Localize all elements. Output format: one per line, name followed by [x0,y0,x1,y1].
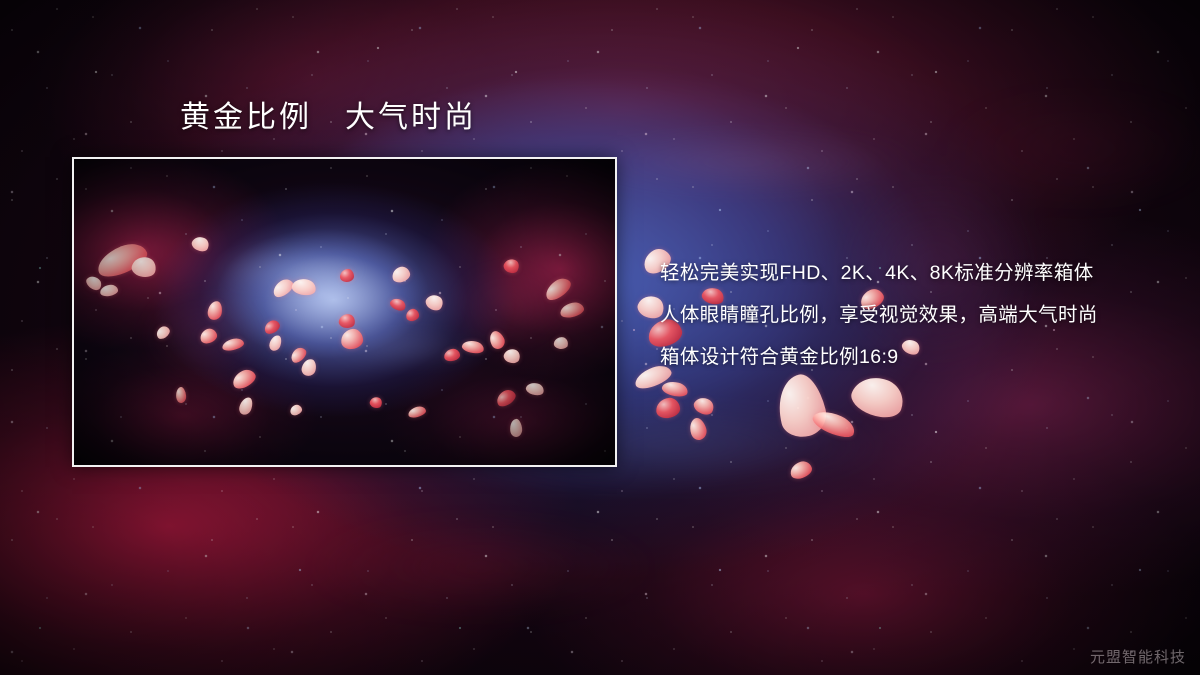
panel-vignette [74,159,615,465]
petal-icon [788,459,814,481]
petal-icon [691,394,716,418]
description-line-2: 人体眼睛瞳孔比例，享受视觉效果，高端大气时尚 [660,294,1160,336]
description-line-3: 箱体设计符合黄金比例16:9 [660,336,1160,378]
petal-icon [661,379,690,399]
petal-icon [655,397,681,419]
petal-icon [687,416,709,442]
presentation-slide: 黄金比例 大气时尚 轻松完美实现FHD、2K、4K、8K标准分辨率箱体 人体眼睛… [0,0,1200,675]
description-text: 轻松完美实现FHD、2K、4K、8K标准分辨率箱体 人体眼睛瞳孔比例，享受视觉效… [660,252,1160,378]
watermark-label: 元盟智能科技 [1090,646,1186,667]
description-line-1: 轻松完美实现FHD、2K、4K、8K标准分辨率箱体 [660,252,1160,294]
image-panel [72,157,617,467]
petal-icon [847,370,909,423]
petal-icon [810,406,858,442]
panel-photo [74,159,615,465]
page-title: 黄金比例 大气时尚 [180,100,477,136]
petal-icon [771,370,831,441]
